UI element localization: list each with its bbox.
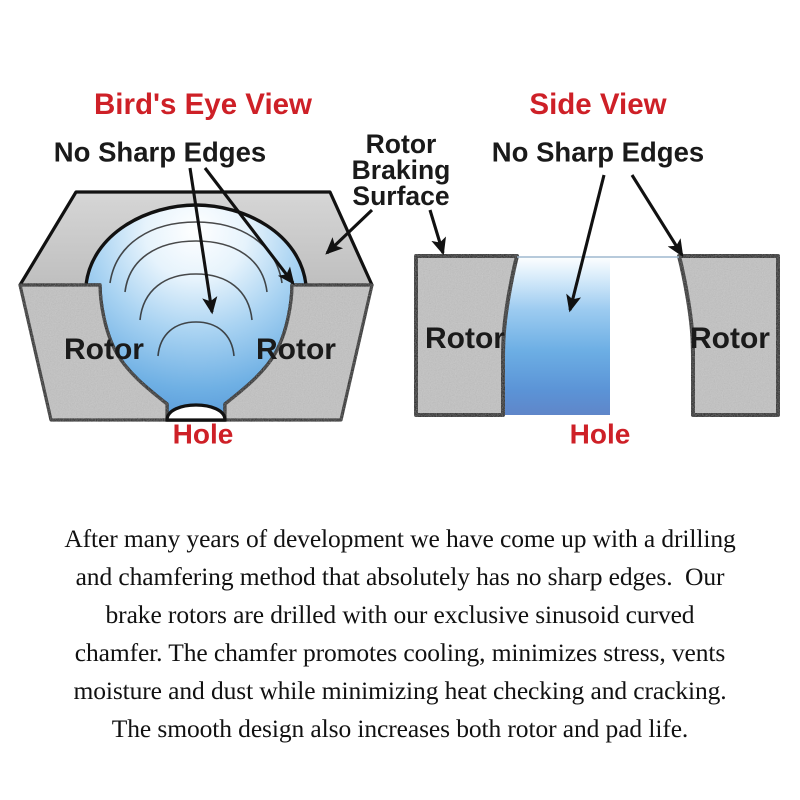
callout-arrow-braking-surface-right xyxy=(430,210,443,253)
hole-label-birds-eye: Hole xyxy=(173,418,234,449)
paragraph-line: moisture and dust while minimizing heat … xyxy=(8,672,792,710)
paragraph-line: chamfer. The chamfer promotes cooling, m… xyxy=(8,634,792,672)
no-sharp-edges-label-left: No Sharp Edges xyxy=(54,136,266,167)
rotor-block-3d xyxy=(20,192,372,420)
side-view-title: Side View xyxy=(529,88,666,121)
paragraph-line: After many years of development we have … xyxy=(8,520,792,558)
rotor-braking-line-3: Surface xyxy=(352,181,449,211)
arrow-no-sharp-edges-outer xyxy=(632,175,682,255)
description-paragraph: After many years of development we have … xyxy=(0,520,800,748)
paragraph-line: and chamfering method that absolutely ha… xyxy=(8,558,792,596)
paragraph-line: The smooth design also increases both ro… xyxy=(8,710,792,748)
paragraph-line: brake rotors are drilled with our exclus… xyxy=(8,596,792,634)
rotor-chamfer-illustration: Bird's Eye View No Sharp Edges Rotor Bra… xyxy=(0,0,800,470)
rotor-label-birds-eye-right: Rotor xyxy=(256,333,336,366)
rotor-label-side-view-right: Rotor xyxy=(690,322,770,355)
side-view-panel: Side View No Sharp Edges Rotor Rotor Hol… xyxy=(416,88,778,450)
rotor-label-side-view-left: Rotor xyxy=(425,322,505,355)
no-sharp-edges-label-right: No Sharp Edges xyxy=(492,136,704,167)
rotor-label-birds-eye-left: Rotor xyxy=(64,333,144,366)
rotor-braking-surface-label: Rotor Braking Surface xyxy=(352,129,451,211)
birds-eye-title: Bird's Eye View xyxy=(94,88,312,121)
birds-eye-panel: Bird's Eye View No Sharp Edges Rotor Bra… xyxy=(20,88,450,450)
diagram-page: Bird's Eye View No Sharp Edges Rotor Bra… xyxy=(0,0,800,800)
hole-label-side-view: Hole xyxy=(570,418,631,449)
